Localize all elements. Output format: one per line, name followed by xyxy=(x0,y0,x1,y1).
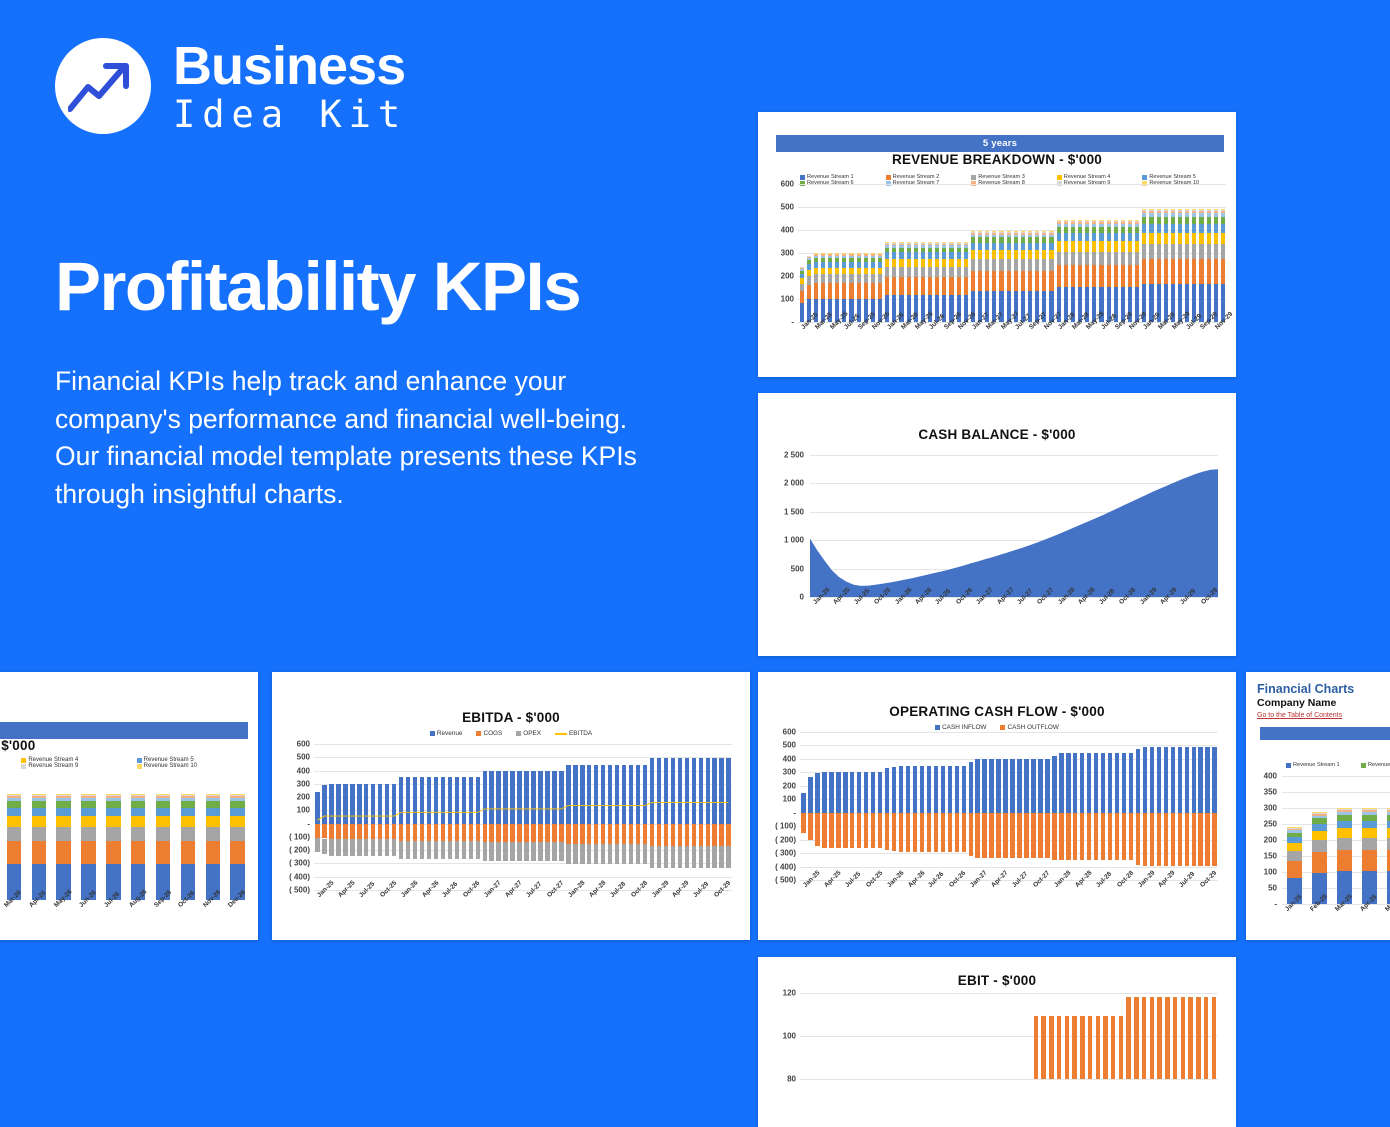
axis-tick-label: 100 xyxy=(297,806,310,815)
card-financial-charts-sidebar[interactable]: Financial Charts Company Name Go to the … xyxy=(1246,672,1390,940)
bar-column xyxy=(1128,732,1135,880)
axis-tick-label: 300 xyxy=(781,249,794,258)
bar-segment xyxy=(871,268,875,275)
bar-column xyxy=(1205,209,1212,322)
bar-segment xyxy=(1287,851,1302,861)
bar-positive xyxy=(1178,747,1182,813)
chart-title-revenue-24m: REAKDOWN - $'000 xyxy=(0,738,248,753)
bar-negative xyxy=(1150,813,1154,866)
bar-segment xyxy=(1149,233,1153,244)
bar-column xyxy=(1148,209,1155,322)
axis-tick-label: ( 400) xyxy=(289,872,310,881)
chart-legend-ebitda: RevenueCOGSOPEXEBITDA xyxy=(272,730,750,737)
bar xyxy=(1204,997,1208,1079)
bar-column xyxy=(1094,1016,1102,1079)
bar-column xyxy=(1148,732,1155,880)
bar-segment xyxy=(1221,224,1225,233)
axis-tick: May-28 xyxy=(1083,326,1097,327)
legend-swatch xyxy=(1142,175,1147,180)
bar-segment xyxy=(949,259,953,267)
bar-negative xyxy=(913,813,917,852)
bar-segment xyxy=(1312,840,1327,852)
bar-column xyxy=(1179,997,1187,1079)
axis-tick: Jul-25 xyxy=(356,894,377,895)
bar-segment xyxy=(1192,259,1196,284)
bar-positive xyxy=(948,766,952,812)
legend-label: Revenue Stream 10 xyxy=(144,763,197,769)
bar-segment xyxy=(32,841,46,864)
axis-tick: Oct-28 xyxy=(1116,601,1136,602)
bar-negative xyxy=(969,813,973,856)
bar-segment xyxy=(1337,828,1352,838)
bar-negative xyxy=(1115,813,1119,860)
bar-positive xyxy=(885,768,889,812)
bar-negative xyxy=(1108,813,1112,860)
bar-segment xyxy=(957,259,961,267)
bar-segment xyxy=(892,259,896,267)
plot-area-revenue-5y xyxy=(798,184,1226,322)
axis-tick: Jul-28 xyxy=(1098,326,1112,327)
bar-column xyxy=(849,732,856,880)
axis-tick: Jan-26 xyxy=(884,326,898,327)
axis-tick-label: ( 100) xyxy=(289,832,310,841)
bar-segment xyxy=(1071,252,1075,265)
chart-legend-ocf: CASH INFLOWCASH OUTFLOW xyxy=(758,724,1236,731)
bar xyxy=(1181,997,1185,1079)
bar-column xyxy=(1164,997,1172,1079)
axis-tick-label: 400 xyxy=(783,754,796,763)
axis-tick: Jan-26 xyxy=(884,884,905,885)
legend-swatch xyxy=(555,733,567,735)
bar-segment xyxy=(1021,259,1025,271)
bar-column xyxy=(1133,997,1141,1079)
bar-segment xyxy=(828,268,832,275)
bar-segment xyxy=(106,816,120,827)
bar-segment xyxy=(181,841,195,864)
bar-segment xyxy=(864,283,868,298)
axis-tick-label: 100 xyxy=(781,295,794,304)
bar-column xyxy=(1183,732,1190,880)
bar-column xyxy=(821,732,828,880)
bar-column xyxy=(925,732,932,880)
axis-tick-label: 500 xyxy=(791,564,804,573)
axis-tick-label: 600 xyxy=(297,740,310,749)
bar-column xyxy=(1079,732,1086,880)
bar-segment xyxy=(1164,224,1168,233)
axis-tick: Jan-27 xyxy=(973,601,993,602)
bar-segment xyxy=(1028,250,1032,259)
axis-tick: Jan-25 xyxy=(810,601,830,602)
bar-segment xyxy=(1199,217,1203,224)
bar-negative xyxy=(1164,813,1168,866)
bar-segment xyxy=(1178,224,1182,233)
bar-negative xyxy=(899,813,903,852)
card-revenue-breakdown-24months[interactable]: 24 months REAKDOWN - $'000 Revenue Strea… xyxy=(0,672,258,940)
chart-title-ebit: EBIT - $'000 xyxy=(758,973,1236,988)
bar-segment xyxy=(871,283,875,298)
card-ebitda[interactable]: EBITDA - $'000 RevenueCOGSOPEXEBITDA 600… xyxy=(272,672,750,940)
bar-positive xyxy=(864,772,868,813)
axis-tick: Mar-26 xyxy=(1,904,26,905)
axis-tick: Apr-27 xyxy=(988,884,1009,885)
bar-segment xyxy=(835,274,839,283)
bar-column xyxy=(962,242,969,322)
bar-column xyxy=(1198,209,1205,322)
legend-item: Revenue Stream 10 xyxy=(137,763,252,769)
axis-tick-label: 50 xyxy=(1268,884,1277,893)
bar xyxy=(1057,1016,1061,1079)
bar-segment xyxy=(1071,233,1075,241)
bar-segment xyxy=(1164,217,1168,224)
bar-segment xyxy=(156,841,170,864)
axis-tick: Sep-26 xyxy=(941,326,955,327)
legend-item: Revenue Stream 6 xyxy=(1361,762,1390,768)
bar-segment xyxy=(1099,241,1103,251)
legend-swatch xyxy=(935,725,940,730)
bar-column xyxy=(995,732,1002,880)
axis-tick: Oct-28 xyxy=(1114,884,1135,885)
bar-column xyxy=(1048,231,1055,322)
chart-title-cash-balance: CASH BALANCE - $'000 xyxy=(758,427,1236,442)
axis-tick-label: 300 xyxy=(1264,804,1277,813)
bar-column xyxy=(934,242,941,322)
x-axis-ocf: Jan-25Apr-25Jul-25Oct-25Jan-26Apr-26Jul-… xyxy=(800,884,1218,885)
bar-segment xyxy=(871,274,875,283)
bar-segment xyxy=(1149,259,1153,284)
card-revenue-breakdown-5years[interactable]: 5 years REVENUE BREAKDOWN - $'000 Revenu… xyxy=(758,112,1236,377)
axis-tick: Apr-28 xyxy=(586,894,607,895)
bar-column xyxy=(1114,732,1121,880)
axis-tick: Jan-25 xyxy=(1282,908,1307,909)
bar-segment xyxy=(7,841,21,864)
axis-tick: Jul-27 xyxy=(1009,884,1030,885)
axis-tick: Apr-25 xyxy=(1357,908,1382,909)
axis-tick-label: 100 xyxy=(1264,868,1277,877)
bar-segment xyxy=(81,816,95,827)
bar-segment xyxy=(1142,233,1146,244)
brand-name-primary: Business xyxy=(173,39,407,93)
bar-segment xyxy=(1207,233,1211,244)
chart-legend-sidebar: Revenue Stream 1Revenue Stream 6 xyxy=(1286,762,1390,768)
bar-column xyxy=(967,732,974,880)
bar-segment xyxy=(985,250,989,259)
bar-segment xyxy=(1028,271,1032,291)
axis-tick-label: 300 xyxy=(297,779,310,788)
bar-segment xyxy=(1157,244,1161,259)
bar-segment xyxy=(1192,244,1196,259)
bar-column xyxy=(1211,732,1218,880)
axis-tick-label: - xyxy=(793,808,796,817)
bar-segment xyxy=(1164,244,1168,259)
bar-segment xyxy=(1064,241,1068,251)
bar-positive xyxy=(969,762,973,812)
bar-segment xyxy=(56,841,70,864)
bar-column xyxy=(1023,732,1030,880)
bar-segment xyxy=(206,816,220,827)
bar-column xyxy=(1194,997,1202,1079)
bar-segment xyxy=(1135,265,1139,287)
bar-segment xyxy=(131,816,145,827)
bar-negative xyxy=(1024,813,1028,858)
bar-segment xyxy=(1035,259,1039,271)
bar-positive xyxy=(1129,753,1133,813)
bar-segment xyxy=(1199,224,1203,233)
bar-positive xyxy=(1080,753,1084,813)
bar-segment xyxy=(206,827,220,841)
bar-positive xyxy=(871,772,875,813)
bar-segment xyxy=(1071,241,1075,251)
bar-segment xyxy=(156,808,170,816)
bar-segment xyxy=(978,250,982,259)
bar-positive xyxy=(829,772,833,813)
axis-tick: Jan-28 xyxy=(1051,884,1072,885)
bar xyxy=(1111,1016,1115,1079)
bar-column xyxy=(1169,732,1176,880)
page-title: Profitability KPIs xyxy=(55,252,715,321)
bar-positive xyxy=(1108,753,1112,813)
axis-tick-label: 200 xyxy=(1264,836,1277,845)
bar-positive xyxy=(1052,756,1056,813)
axis-tick: May-26 xyxy=(912,326,926,327)
bar-segment xyxy=(1157,259,1161,284)
legend-swatch xyxy=(137,758,142,763)
bar-negative xyxy=(962,813,966,852)
bar-column xyxy=(905,732,912,880)
legend-item: COGS xyxy=(476,730,502,737)
bar xyxy=(1165,997,1169,1079)
bar-segment xyxy=(835,268,839,275)
bar-column xyxy=(819,253,826,322)
bar-positive xyxy=(955,766,959,812)
bar-segment xyxy=(1178,233,1182,244)
bar-positive xyxy=(941,766,945,812)
bar xyxy=(1041,1016,1045,1079)
table-of-contents-link[interactable]: Go to the Table of Contents xyxy=(1257,712,1342,719)
bar-segment xyxy=(992,250,996,259)
axis-tick: Jan-25 xyxy=(798,326,812,327)
bar-negative xyxy=(1010,813,1014,858)
axis-tick: Jul-29 xyxy=(690,894,711,895)
grid-line xyxy=(800,1079,1218,1080)
period-band-5years: 5 years xyxy=(776,135,1224,152)
bar-column xyxy=(1040,1016,1048,1079)
bar-segment xyxy=(899,259,903,267)
plot-area-ocf xyxy=(800,732,1218,880)
bar-segment xyxy=(1064,252,1068,265)
bar-negative xyxy=(920,813,924,852)
bar-segment xyxy=(914,277,918,295)
bar-negative xyxy=(1080,813,1084,860)
bar-segment xyxy=(892,267,896,277)
axis-tick: Apr-29 xyxy=(1155,884,1176,885)
bar-negative xyxy=(948,813,952,852)
bar-segment xyxy=(1021,271,1025,291)
card-operating-cash-flow[interactable]: OPERATING CASH FLOW - $'000 CASH INFLOWC… xyxy=(758,672,1236,940)
legend-label: OPEX xyxy=(523,730,541,737)
legend-label: CASH OUTFLOW xyxy=(1007,724,1058,731)
bar-positive xyxy=(927,766,931,812)
bar-segment xyxy=(1092,241,1096,251)
bar-positive xyxy=(850,772,854,813)
sidebar-subtitle: Company Name xyxy=(1257,697,1336,709)
bar-column xyxy=(1048,1016,1056,1079)
axis-tick: Oct-29 xyxy=(711,894,732,895)
bar-segment xyxy=(1171,224,1175,233)
axis-tick: Dec-26 xyxy=(225,904,250,905)
bar-column xyxy=(814,732,821,880)
bar-segment xyxy=(1207,217,1211,224)
bar-negative xyxy=(836,813,840,848)
axis-tick-label: ( 200) xyxy=(289,846,310,855)
page-description: Financial KPIs help track and enhance yo… xyxy=(55,363,655,514)
axis-tick-label: 120 xyxy=(783,989,796,998)
bar-segment xyxy=(1128,241,1132,251)
bar-segment xyxy=(1149,244,1153,259)
bar-positive xyxy=(989,759,993,813)
bar-negative xyxy=(1198,813,1202,866)
bar-segment xyxy=(1214,233,1218,244)
bar-segment xyxy=(921,267,925,277)
bar-segment xyxy=(1171,217,1175,224)
axis-tick: Jan-28 xyxy=(565,894,586,895)
bar-column xyxy=(863,732,870,880)
bar-segment xyxy=(985,271,989,291)
bar-segment xyxy=(842,268,846,275)
axis-tick: Mar-26 xyxy=(898,326,912,327)
bar-segment xyxy=(1164,233,1168,244)
bar-column xyxy=(1034,231,1041,322)
bar-positive xyxy=(996,759,1000,813)
bar-column xyxy=(1204,732,1211,880)
bar-segment xyxy=(914,259,918,267)
axis-tick: Jul-26 xyxy=(926,326,940,327)
bar-segment xyxy=(999,259,1003,271)
axis-tick: Nov-29 xyxy=(1212,326,1226,327)
axis-tick: Oct-27 xyxy=(544,894,565,895)
bar-segment xyxy=(1049,259,1053,271)
bar-column xyxy=(1357,808,1382,904)
axis-tick-label: 400 xyxy=(781,226,794,235)
bar-column xyxy=(884,242,891,322)
bar-positive xyxy=(1024,759,1028,813)
bar-segment xyxy=(942,267,946,277)
bar-column xyxy=(918,732,925,880)
axis-tick: Jul-29 xyxy=(1176,884,1197,885)
bar-negative xyxy=(1122,813,1126,860)
bar-column xyxy=(948,242,955,322)
bar-negative xyxy=(941,813,945,852)
bar-segment xyxy=(206,808,220,816)
bar-segment xyxy=(978,259,982,271)
bar-segment xyxy=(1007,243,1011,250)
bar-column xyxy=(1105,220,1112,322)
bar-positive xyxy=(962,766,966,812)
card-cash-balance[interactable]: CASH BALANCE - $'000 2 5002 0001 5001 00… xyxy=(758,393,1236,656)
bar-negative xyxy=(1136,813,1140,865)
bar-segment xyxy=(842,283,846,298)
bar-segment xyxy=(1128,265,1132,287)
bar-segment xyxy=(1199,244,1203,259)
bar-negative xyxy=(996,813,1000,858)
bar-column xyxy=(1027,231,1034,322)
axis-tick-label: ( 500) xyxy=(289,886,310,895)
bar-column xyxy=(126,794,151,900)
x-axis-revenue-5y: Jan-25Mar-25May-25Jul-25Sep-25Nov-25Jan-… xyxy=(798,326,1226,327)
bar-segment xyxy=(1014,259,1018,271)
bar-column xyxy=(1072,732,1079,880)
bar-negative xyxy=(1073,813,1077,860)
bar-segment xyxy=(1035,250,1039,259)
bar xyxy=(1173,997,1177,1079)
bar-negative xyxy=(1192,813,1196,866)
bar-segment xyxy=(928,277,932,295)
bar-segment xyxy=(800,291,804,303)
bar-segment xyxy=(885,267,889,277)
bar-column xyxy=(898,732,905,880)
bar-column xyxy=(1032,1016,1040,1079)
bar-positive xyxy=(1136,749,1140,813)
bar-segment xyxy=(814,283,818,298)
bar-segment xyxy=(1121,241,1125,251)
bar-positive xyxy=(836,772,840,813)
bar-column xyxy=(798,267,805,322)
bar-column xyxy=(1009,732,1016,880)
bar-column xyxy=(1084,220,1091,322)
bar-positive xyxy=(975,759,979,812)
bar-column xyxy=(1135,732,1142,880)
card-ebit[interactable]: EBIT - $'000 12010080 xyxy=(758,957,1236,1127)
bar-positive xyxy=(1066,753,1070,813)
bar-segment xyxy=(1092,265,1096,287)
axis-tick: Apr-25 xyxy=(821,884,842,885)
bar-segment xyxy=(1128,233,1132,241)
bar-negative xyxy=(1052,813,1056,860)
bar-column xyxy=(862,253,869,322)
bar-column xyxy=(1037,732,1044,880)
bar-segment xyxy=(1057,252,1061,265)
chart-title-ocf: OPERATING CASH FLOW - $'000 xyxy=(758,704,1236,719)
bar-column xyxy=(51,794,76,900)
bar-segment xyxy=(1064,233,1068,241)
bar-segment xyxy=(81,841,95,864)
bar-segment xyxy=(1085,233,1089,241)
axis-tick: Oct-25 xyxy=(863,884,884,885)
bar-segment xyxy=(935,259,939,267)
bar-segment xyxy=(857,283,861,298)
axis-tick: Aug-26 xyxy=(126,904,151,905)
bar-segment xyxy=(1171,244,1175,259)
axis-tick: Nov-25 xyxy=(869,326,883,327)
bar-segment xyxy=(1057,265,1061,287)
bar-segment xyxy=(1287,861,1302,878)
bar-segment xyxy=(1185,244,1189,259)
bar-segment xyxy=(32,827,46,841)
bar-segment xyxy=(106,827,120,841)
bar-column xyxy=(1086,732,1093,880)
bar-segment xyxy=(1199,233,1203,244)
axis-tick: Jan-27 xyxy=(969,326,983,327)
bar-segment xyxy=(1021,243,1025,250)
bar-column xyxy=(1012,231,1019,322)
bar-segment xyxy=(1099,233,1103,241)
axis-tick: Jul-28 xyxy=(1093,884,1114,885)
legend-label: Revenue Stream 9 xyxy=(28,763,78,769)
bar-segment xyxy=(1107,241,1111,251)
bar-segment xyxy=(814,268,818,275)
bar-segment xyxy=(892,277,896,295)
bar-negative xyxy=(801,813,805,833)
bar-positive xyxy=(1164,747,1168,813)
